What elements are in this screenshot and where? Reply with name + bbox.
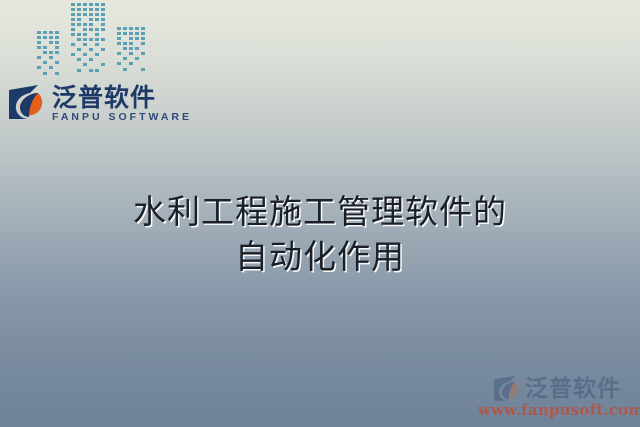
brand-name-en: FANPU SOFTWARE <box>52 111 192 124</box>
brand-name-cn: 泛普软件 <box>52 85 192 111</box>
watermark-logo: 泛普软件 <box>478 375 636 403</box>
page-title: 水利工程施工管理软件的 自动化作用 <box>0 189 640 279</box>
page-title-line-2: 自动化作用 <box>0 234 640 279</box>
brand-wordmark: 泛普软件 FANPU SOFTWARE <box>52 84 192 124</box>
brand-logo: 泛普软件 FANPU SOFTWARE <box>8 84 192 124</box>
page-title-line-1: 水利工程施工管理软件的 <box>0 189 640 234</box>
promo-banner: 泛普软件 FANPU SOFTWARE 水利工程施工管理软件的 自动化作用 泛普… <box>0 0 640 427</box>
pixel-buildings-icon <box>28 0 148 82</box>
watermark-brand-name: 泛普软件 <box>525 376 621 402</box>
watermark-url: www.fanpusoft.com <box>478 402 636 419</box>
fanpu-logo-mark <box>8 84 48 122</box>
watermark: 泛普软件 www.fanpusoft.com <box>478 375 636 419</box>
fanpu-logo-mark-watermark <box>493 375 523 403</box>
